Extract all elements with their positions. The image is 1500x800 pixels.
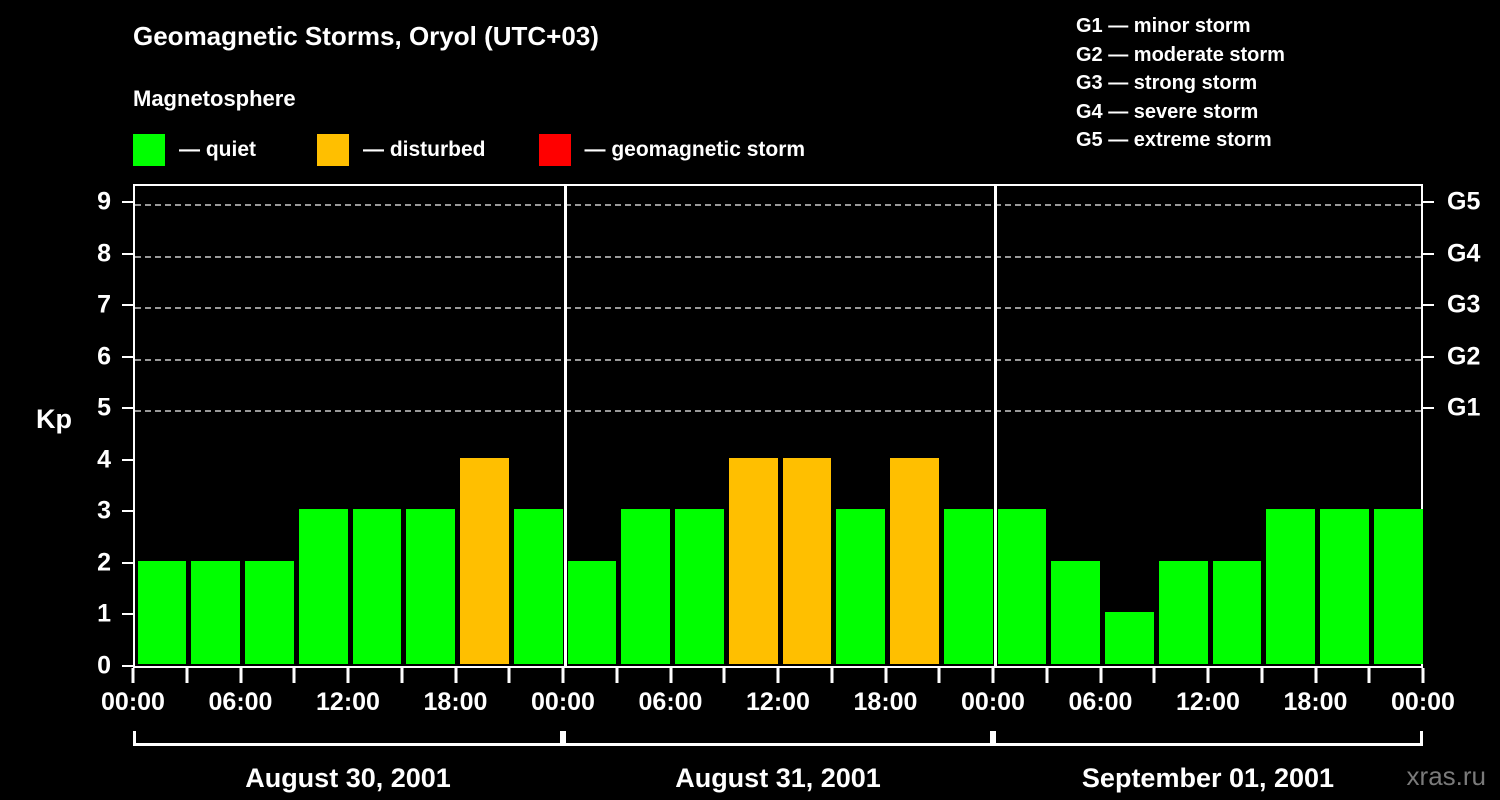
legend-item-disturbed: — disturbed [317,133,486,167]
bars-layer [135,186,1421,666]
x-tick-mark [347,668,350,683]
legend-label-quiet: — quiet [179,138,256,162]
y-tick-label-6: 6 [71,342,111,371]
bar [514,509,563,664]
y-tick-label-9: 9 [71,188,111,217]
x-tick-label: 00:00 [961,688,1025,717]
bar [890,458,939,664]
x-tick-mark-minor [185,668,188,683]
legend-label-storm: — geomagnetic storm [585,138,806,162]
legend-item-quiet: — quiet [133,133,256,167]
gscale-legend-line-1: G1 — minor storm [1076,12,1285,41]
y-tick-label-3: 3 [71,497,111,526]
bar [621,509,670,664]
x-tick-label: 18:00 [854,688,918,717]
x-tick-mark [454,668,457,683]
plot-area [133,184,1423,668]
bar [460,458,509,664]
bar [138,561,187,664]
x-tick-mark [562,668,565,683]
x-tick-mark [132,668,135,683]
x-tick-mark-minor [400,668,403,683]
disturbed-swatch [317,134,349,166]
y-tick-mark-9 [122,201,133,203]
gscale-legend-line-3: G3 — strong storm [1076,69,1285,98]
y-tick-mark-7 [122,304,133,306]
bar [568,561,617,664]
x-tick-mark [1207,668,1210,683]
bar [353,509,402,664]
x-tick-mark [1422,668,1425,683]
g-tick-mark-G3 [1423,304,1434,306]
series-title: Magnetosphere [133,86,296,112]
day-divider [564,186,567,666]
y-tick-mark-0 [122,665,133,667]
x-tick-mark-minor [938,668,941,683]
x-tick-label: 06:00 [639,688,703,717]
y-tick-mark-3 [122,510,133,512]
x-tick-label: 12:00 [316,688,380,717]
x-tick-label: 00:00 [101,688,165,717]
storm-swatch [539,134,571,166]
y-axis-title: Kp [36,404,72,435]
bar [675,509,724,664]
y-tick-mark-4 [122,459,133,461]
day-label: August 30, 2001 [245,763,451,794]
bar [1374,509,1423,664]
x-tick-mark [884,668,887,683]
bar [944,509,993,664]
day-label: September 01, 2001 [1082,763,1334,794]
x-tick-mark [239,668,242,683]
gscale-legend-line-5: G5 — extreme storm [1076,126,1285,155]
watermark: xras.ru [1407,761,1486,792]
g-tick-label-G3: G3 [1447,291,1480,320]
g-tick-mark-G2 [1423,356,1434,358]
bar [783,458,832,664]
bar [245,561,294,664]
y-tick-label-4: 4 [71,445,111,474]
y-tick-label-0: 0 [71,652,111,681]
x-tick-label: 00:00 [531,688,595,717]
bar [729,458,778,664]
x-tick-label: 12:00 [746,688,810,717]
g-tick-mark-G4 [1423,253,1434,255]
g-tick-label-G1: G1 [1447,394,1480,423]
x-tick-mark-minor [1260,668,1263,683]
x-tick-label: 06:00 [1069,688,1133,717]
x-tick-mark [777,668,780,683]
bar [1266,509,1315,664]
x-tick-mark [1314,668,1317,683]
x-tick-label: 18:00 [424,688,488,717]
x-tick-mark-minor [723,668,726,683]
bar [1105,612,1154,664]
gscale-legend-line-4: G4 — severe storm [1076,98,1285,127]
x-tick-mark-minor [1153,668,1156,683]
day-label: August 31, 2001 [675,763,881,794]
day-bracket-line [133,743,563,746]
g-tick-label-G5: G5 [1447,188,1480,217]
g-tick-mark-G1 [1423,407,1434,409]
x-tick-label: 00:00 [1391,688,1455,717]
bar [998,509,1047,664]
y-axis-gscale: G1G2G3G4G5 [1423,184,1500,668]
y-tick-mark-5 [122,407,133,409]
x-tick-mark-minor [508,668,511,683]
y-tick-label-8: 8 [71,239,111,268]
x-tick-mark-minor [1045,668,1048,683]
day-bracket-line [993,743,1423,746]
day-brackets: August 30, 2001August 31, 2001September … [133,731,1423,800]
y-tick-mark-1 [122,613,133,615]
day-bracket-line [563,743,993,746]
bar [836,509,885,664]
plot-inner [135,186,1421,666]
x-tick-label: 18:00 [1284,688,1348,717]
y-tick-label-5: 5 [71,394,111,423]
legend-label-disturbed: — disturbed [363,138,486,162]
gscale-legend-line-2: G2 — moderate storm [1076,41,1285,70]
legend-item-storm: — geomagnetic storm [539,133,806,167]
bar [1159,561,1208,664]
magnetosphere-legend: — quiet — disturbed — geomagnetic storm [133,133,805,167]
x-tick-mark [1099,668,1102,683]
x-tick-label: 06:00 [209,688,273,717]
y-tick-mark-2 [122,562,133,564]
y-tick-label-7: 7 [71,291,111,320]
g-tick-label-G2: G2 [1447,342,1480,371]
y-tick-mark-6 [122,356,133,358]
bar [1051,561,1100,664]
x-tick-label: 12:00 [1176,688,1240,717]
bar [191,561,240,664]
page-title: Geomagnetic Storms, Oryol (UTC+03) [133,21,599,52]
x-tick-mark-minor [1368,668,1371,683]
bar [1213,561,1262,664]
bar [406,509,455,664]
day-divider [994,186,997,666]
g-tick-label-G4: G4 [1447,239,1480,268]
gscale-legend: G1 — minor stormG2 — moderate stormG3 — … [1076,12,1285,155]
x-tick-mark-minor [830,668,833,683]
y-tick-label-2: 2 [71,548,111,577]
x-tick-mark [669,668,672,683]
g-tick-mark-G5 [1423,201,1434,203]
x-tick-mark-minor [293,668,296,683]
y-tick-mark-8 [122,253,133,255]
x-tick-mark [992,668,995,683]
quiet-swatch [133,134,165,166]
bar [1320,509,1369,664]
bar [299,509,348,664]
y-tick-label-1: 1 [71,600,111,629]
x-tick-mark-minor [615,668,618,683]
